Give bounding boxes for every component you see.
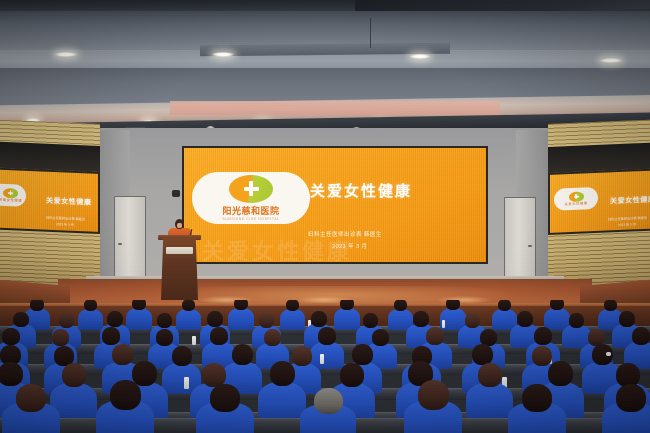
audience-head (286, 300, 299, 311)
audience-head (534, 327, 552, 345)
door-right[interactable] (504, 197, 536, 283)
audience-head (52, 329, 69, 346)
audience-head (446, 300, 460, 310)
water-bottle (442, 320, 445, 328)
audience-head (532, 346, 552, 366)
audience-torso (280, 309, 305, 330)
audience-head (413, 311, 429, 327)
audience-head (465, 313, 480, 328)
medical-cross-icon: [data-name="hospital-logo-oval"] .logo-c… (244, 181, 259, 196)
side-right-logo-text: 关爱女性健康 (564, 202, 587, 206)
audience-head (132, 361, 157, 386)
auditorium-scene: [data-name="side-left-logo-oval"] .logo-… (0, 0, 650, 433)
audience-head (314, 388, 343, 414)
side-left-slide-subtitle-1: 妇科主任医师出诊表 韩医生 (46, 215, 85, 222)
audience-head (172, 346, 192, 366)
ceiling-downlight (410, 54, 430, 59)
slide-subtitle-line2: 2023 年 3 月 (332, 242, 367, 250)
audience-head (311, 311, 327, 327)
audience-head (550, 300, 564, 310)
audience-head (264, 329, 281, 346)
audience-head (270, 361, 295, 386)
audience-torso (310, 342, 344, 369)
audience-head (156, 329, 173, 346)
audience-torso (176, 309, 201, 330)
audience-head (30, 300, 44, 311)
ceiling-downlight (600, 58, 622, 63)
hospital-name-cn: 阳光慈和医院 (222, 207, 279, 216)
audience-head (352, 344, 373, 365)
audience-torso (228, 308, 254, 330)
side-right-slide-subtitle-2: 2023 年 3 月 (618, 221, 636, 227)
audience-head (259, 313, 274, 328)
side-screen-left-surface: [data-name="side-left-logo-oval"] .logo-… (0, 170, 98, 232)
door-handle-icon (528, 245, 532, 247)
audience-head (234, 300, 248, 310)
audience-head (418, 380, 449, 410)
audience-head (110, 380, 141, 410)
side-right-slide-subtitle-1: 妇科主任医师出诊表 韩医生 (608, 215, 647, 222)
audience-head (210, 384, 240, 412)
audience-head (426, 327, 444, 345)
audience-head (2, 328, 20, 345)
audience-head (372, 329, 389, 346)
water-bottle (320, 354, 324, 364)
audience-head (112, 344, 133, 365)
ceiling-wire (370, 18, 371, 48)
side-screen-right-surface: [data-name="side-right-logo-oval"] .logo… (550, 171, 650, 233)
audience-head (84, 300, 97, 311)
audience-area (0, 300, 650, 433)
water-bottle (192, 336, 196, 345)
hospital-logo-oval: [data-name="hospital-logo-oval"] .logo-c… (229, 175, 273, 203)
audience-torso (126, 308, 152, 330)
audience-head (632, 327, 650, 345)
audience-head (107, 311, 123, 327)
speaker-face (177, 223, 182, 228)
audience-torso (466, 383, 513, 420)
water-bottle (184, 377, 189, 389)
medical-cross-icon: [data-name="side-left-logo-oval"] .logo-… (8, 190, 13, 195)
audience-head (210, 327, 228, 345)
audience-head (232, 344, 253, 365)
audience-head (132, 300, 146, 310)
audience-head (340, 363, 364, 387)
hospital-name-en: SUNSHINE CIHE HOSPITAL (222, 218, 279, 221)
audience-head (472, 344, 493, 365)
audience-head (548, 361, 573, 386)
audience-head (478, 363, 502, 387)
audience-head (517, 311, 533, 327)
side-screen-right: [data-name="side-right-logo-oval"] .logo… (548, 169, 650, 235)
ceiling-downlight (212, 52, 234, 57)
medical-cross-icon: [data-name="side-right-logo-oval"] .logo… (574, 194, 579, 199)
main-led-screen: [data-name="hospital-logo-oval"] .logo-c… (182, 146, 488, 264)
side-left-slide-title: 关爱女性健康 (46, 196, 92, 208)
side-right-logo-oval: [data-name="side-right-logo-oval"] .logo… (569, 191, 584, 202)
side-left-logo-text: 关爱女性健康 (0, 199, 22, 203)
audience-head (59, 313, 74, 328)
side-left-slide-subtitle-2: 2023 年 3 月 (56, 221, 74, 227)
audience-torso (258, 382, 306, 420)
audience-head (569, 313, 584, 328)
audience-torso (334, 308, 360, 330)
hospital-logo-plate: [data-name="hospital-logo-oval"] .logo-c… (192, 172, 310, 224)
side-right-logo-plate: [data-name="side-right-logo-oval"] .logo… (554, 187, 598, 211)
audience-head (616, 384, 646, 412)
side-left-logo-plate: [data-name="side-left-logo-oval"] .logo-… (0, 183, 26, 207)
audience-head (363, 313, 378, 328)
audience-head (102, 327, 120, 345)
audience-head (182, 300, 195, 311)
audience-head (604, 300, 617, 311)
audience-head (0, 362, 23, 386)
ceiling-downlight (55, 52, 77, 57)
door-left[interactable] (114, 196, 146, 282)
audience-head (340, 300, 354, 310)
side-right-slide-title: 关爱女性健康 (610, 194, 650, 206)
podium-nameplate (166, 247, 193, 254)
side-screen-left: [data-name="side-left-logo-oval"] .logo-… (0, 168, 100, 234)
audience-head (522, 384, 552, 412)
audience-head (619, 311, 635, 327)
audience-head (157, 313, 172, 328)
wall-speaker (172, 190, 180, 197)
audience-torso (78, 309, 103, 330)
audience-head (394, 300, 407, 311)
slide-watermark-text: 关爱女性健康 (202, 234, 352, 262)
audience-head (292, 346, 312, 366)
audience-head (498, 300, 511, 311)
door-handle-icon (118, 243, 122, 245)
main-screen-surface: [data-name="hospital-logo-oval"] .logo-c… (184, 148, 486, 262)
side-left-logo-oval: [data-name="side-left-logo-oval"] .logo-… (3, 188, 18, 199)
face-mask (606, 352, 611, 356)
audience-head (318, 327, 336, 345)
audience-head (62, 363, 86, 387)
audience-head (13, 312, 29, 327)
ceiling-soffit-accent (170, 101, 500, 115)
audience-head (16, 384, 46, 412)
audience-head (207, 311, 223, 327)
slide-headline: 关爱女性健康 (310, 180, 412, 201)
slide-subtitle-line1: 妇科主任医师出诊表 韩医生 (308, 230, 382, 238)
